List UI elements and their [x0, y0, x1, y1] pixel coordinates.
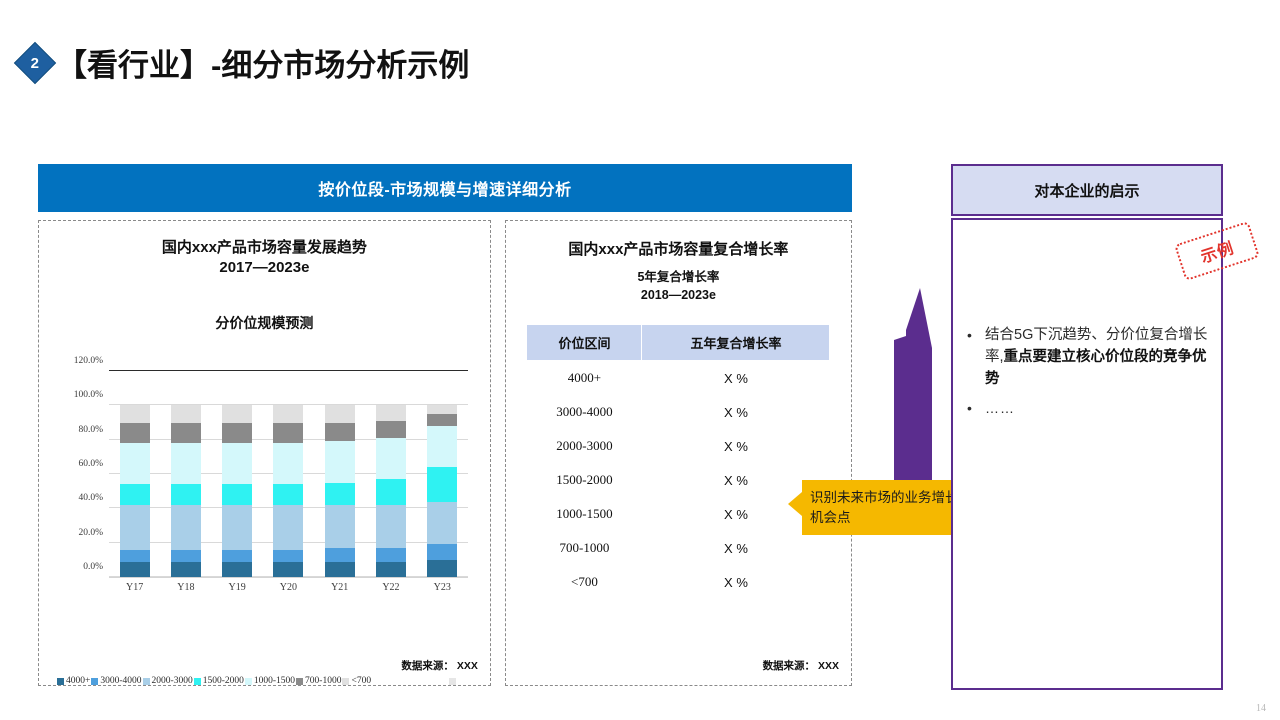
cell-price-range: 700-1000 [527, 531, 642, 565]
chart-subtitle: 分价位规模预测 [39, 313, 490, 333]
chart-bar-segment [120, 484, 150, 505]
chart-bar-segment [171, 484, 201, 505]
chart-legend-label: 700-1000 [305, 676, 341, 686]
chart-plot-area: 0.0%20.0%40.0%60.0%80.0%100.0%120.0% [109, 371, 468, 577]
cagr-subtitle-line1: 5年复合增长率 [506, 268, 851, 286]
chart-x-tick-label: Y23 [427, 582, 457, 593]
chart-legend-swatch [342, 678, 349, 685]
chart-bar-segment [222, 423, 252, 444]
chart-x-tick-label: Y20 [273, 582, 303, 593]
chart-bar-segment [325, 483, 355, 505]
insight-bullet-text: 结合5G下沉趋势、分价位复合增长率,重点要建立核心价位段的竞争优势 [985, 325, 1211, 390]
insight-bullet-list: •结合5G下沉趋势、分价位复合增长率,重点要建立核心价位段的竞争优势•…… [967, 325, 1211, 429]
cell-cagr: X % [642, 429, 830, 463]
cagr-table: 价位区间 五年复合增长率 4000+X %3000-4000X %2000-30… [526, 324, 830, 599]
chart-bar-segment [325, 562, 355, 577]
cell-price-range: 1500-2000 [527, 463, 642, 497]
chart-y-tick-label: 120.0% [74, 356, 103, 366]
example-stamp-label: 示例 [1197, 234, 1237, 267]
chart-bar [171, 405, 201, 577]
chart-bar-segment [427, 544, 457, 559]
chart-legend-label: 1000-1500 [254, 676, 295, 686]
chart-legend-swatch [449, 678, 456, 685]
chart-legend: 4000+3000-40002000-30001500-20001000-150… [57, 676, 480, 686]
chart-legend-swatch [143, 678, 150, 685]
cagr-table-title: 国内xxx产品市场容量复合增长率 [506, 238, 851, 259]
chart-legend-swatch [245, 678, 252, 685]
chart-bar-segment [273, 405, 303, 422]
chart-bar-segment [222, 550, 252, 562]
chart-x-axis [109, 577, 468, 578]
chart-bar-segment [427, 414, 457, 426]
chart-bar-segment [222, 505, 252, 550]
chart-bar-segment [120, 405, 150, 422]
chart-bar-segment [427, 467, 457, 501]
table-body: 4000+X %3000-4000X %2000-3000X %1500-200… [527, 361, 830, 600]
chart-bar-segment [120, 443, 150, 484]
page-number: 14 [1256, 703, 1266, 714]
table-row: 1500-2000X % [527, 463, 830, 497]
chart-title-line2: 2017—2023e [39, 258, 490, 278]
slide-number-badge-label: 2 [31, 55, 39, 70]
chart-source-note: 数据来源： XXX [401, 658, 477, 673]
table-row: 700-1000X % [527, 531, 830, 565]
chart-title-line1: 国内xxx产品市场容量发展趋势 [39, 238, 490, 258]
chart-legend-label: 4000+ [66, 676, 90, 686]
chart-legend-item: 1500-2000 [194, 676, 244, 686]
chart-y-tick-label: 60.0% [78, 459, 103, 469]
main-card: 按价位段-市场规模与增速详细分析 国内xxx产品市场容量发展趋势 2017—20… [38, 164, 852, 686]
chart-bar-segment [171, 423, 201, 444]
insight-panel-title: 对本企业的启示 [1034, 180, 1139, 201]
chart-panel: 国内xxx产品市场容量发展趋势 2017—2023e 分价位规模预测 0.0%2… [38, 220, 491, 686]
cell-price-range: 1000-1500 [527, 497, 642, 531]
insight-panel-body: •结合5G下沉趋势、分价位复合增长率,重点要建立核心价位段的竞争优势•…… [951, 218, 1223, 690]
insight-bullet-normal-text: …… [985, 400, 1015, 416]
cell-price-range: 4000+ [527, 361, 642, 396]
chart-x-tick-label: Y19 [222, 582, 252, 593]
callout-tail-icon [788, 492, 802, 516]
insight-bullet: •结合5G下沉趋势、分价位复合增长率,重点要建立核心价位段的竞争优势 [967, 325, 1211, 390]
chart-bar-segment [222, 562, 252, 577]
slide-number-badge: 2 [14, 41, 56, 83]
chart-x-tick-label: Y17 [120, 582, 150, 593]
chart-y-tick-label: 20.0% [78, 528, 103, 538]
table-row: 4000+X % [527, 361, 830, 396]
chart-legend-item: 2000-3000 [143, 676, 193, 686]
chart-x-tick-labels: Y17Y18Y19Y20Y21Y22Y23 [109, 582, 468, 593]
chart-bars [109, 371, 468, 577]
bullet-dot-icon: • [967, 325, 975, 390]
chart-legend-label: 3000-4000 [100, 676, 141, 686]
chart-bar-segment [427, 426, 457, 467]
chart-legend-item: 4000+ [57, 676, 90, 686]
column-header-cagr: 五年复合增长率 [642, 325, 830, 361]
cagr-table-subtitle: 5年复合增长率 2018—2023e [506, 268, 851, 304]
cagr-subtitle-line2: 2018—2023e [506, 286, 851, 304]
chart-bar-segment [376, 421, 406, 438]
chart-x-tick-label: Y18 [171, 582, 201, 593]
chart-bar-segment [427, 405, 457, 414]
chart-bar-segment [376, 562, 406, 577]
chart-y-tick-label: 40.0% [78, 493, 103, 503]
chart-x-tick-label: Y22 [376, 582, 406, 593]
chart-legend-swatch [194, 678, 201, 685]
chart-y-tick-label: 80.0% [78, 425, 103, 435]
chart-bar-segment [325, 441, 355, 482]
insight-panel-header: 对本企业的启示 [951, 164, 1223, 216]
chart-legend-item: 1000-1500 [245, 676, 295, 686]
cell-price-range: <700 [527, 565, 642, 599]
chart-legend-item: <700 [342, 676, 371, 686]
chart-bar-segment [120, 550, 150, 562]
chart-bar-segment [273, 505, 303, 550]
chart-legend-label: 1500-2000 [203, 676, 244, 686]
table-row: <700X % [527, 565, 830, 599]
chart-bar-segment [427, 502, 457, 545]
chart-y-tick-label: 0.0% [83, 562, 103, 572]
chart-bar-segment [171, 405, 201, 422]
table-source-note: 数据来源： XXX [763, 658, 839, 673]
chart-bar [120, 405, 150, 577]
chart-bar-segment [120, 505, 150, 550]
cell-cagr: X % [642, 565, 830, 599]
chart-bar [325, 405, 355, 577]
chart-bar-segment [120, 423, 150, 444]
chart-bar-segment [273, 423, 303, 444]
chart-legend-swatch [91, 678, 98, 685]
card-header-title: 按价位段-市场规模与增速详细分析 [318, 176, 571, 200]
stacked-bar-chart: 0.0%20.0%40.0%60.0%80.0%100.0%120.0% Y17… [39, 361, 490, 621]
chart-y-tick-label: 100.0% [74, 390, 103, 400]
cell-cagr: X % [642, 361, 830, 396]
chart-bar-segment [325, 548, 355, 562]
chart-bar-segment [376, 505, 406, 548]
chart-bar-segment [376, 438, 406, 479]
chart-legend-swatch [296, 678, 303, 685]
chart-title: 国内xxx产品市场容量发展趋势 2017—2023e [39, 238, 490, 279]
table-row: 3000-4000X % [527, 395, 830, 429]
insight-bullet: •…… [967, 398, 1211, 421]
cell-price-range: 3000-4000 [527, 395, 642, 429]
chart-bar-segment [376, 405, 406, 420]
chart-bar-segment [273, 562, 303, 577]
chart-bar-segment [376, 548, 406, 562]
table-header-row: 价位区间 五年复合增长率 [527, 325, 830, 361]
table-row: 2000-3000X % [527, 429, 830, 463]
chart-bar-segment [171, 562, 201, 577]
chart-bar-segment [273, 550, 303, 562]
chart-bar-segment [120, 562, 150, 577]
chart-legend-item: 700-1000 [296, 676, 341, 686]
chart-bar-segment [171, 550, 201, 562]
chart-x-tick-label: Y21 [325, 582, 355, 593]
chart-bar-segment [325, 405, 355, 422]
cell-cagr: X % [642, 395, 830, 429]
cell-cagr: X % [642, 531, 830, 565]
card-header: 按价位段-市场规模与增速详细分析 [38, 164, 852, 212]
page-title: 【看行业】-细分市场分析示例 [56, 40, 469, 85]
chart-bar-segment [325, 423, 355, 442]
insight-bullet-bold-text: 重点要建立核心价位段的竞争优势 [985, 349, 1207, 387]
chart-bar-segment [376, 479, 406, 505]
chart-bar [427, 405, 457, 577]
chart-bar [222, 405, 252, 577]
card-body: 国内xxx产品市场容量发展趋势 2017—2023e 分价位规模预测 0.0%2… [38, 220, 852, 686]
chart-legend-item: 3000-4000 [91, 676, 141, 686]
chart-bar-segment [222, 484, 252, 505]
chart-bar-segment [171, 443, 201, 484]
insight-bullet-text: …… [985, 398, 1015, 421]
chart-bar-segment [273, 484, 303, 505]
chart-legend-swatch [57, 678, 64, 685]
column-header-price-range: 价位区间 [527, 325, 642, 361]
chart-bar-segment [273, 443, 303, 484]
chart-bar-segment [171, 505, 201, 550]
chart-bar-segment [427, 560, 457, 577]
chart-bar-segment [222, 443, 252, 484]
page-title-row: 2 【看行业】-细分市场分析示例 [20, 40, 469, 85]
chart-bar [273, 405, 303, 577]
bullet-dot-icon: • [967, 398, 975, 421]
chart-bar [376, 405, 406, 577]
chart-legend-label: 2000-3000 [152, 676, 193, 686]
table-row: 1000-1500X % [527, 497, 830, 531]
cell-price-range: 2000-3000 [527, 429, 642, 463]
chart-bar-segment [222, 405, 252, 422]
cagr-table-panel: 国内xxx产品市场容量复合增长率 5年复合增长率 2018—2023e 价位区间… [505, 220, 852, 686]
chart-bar-segment [325, 505, 355, 548]
chart-legend-label: <700 [351, 676, 371, 686]
